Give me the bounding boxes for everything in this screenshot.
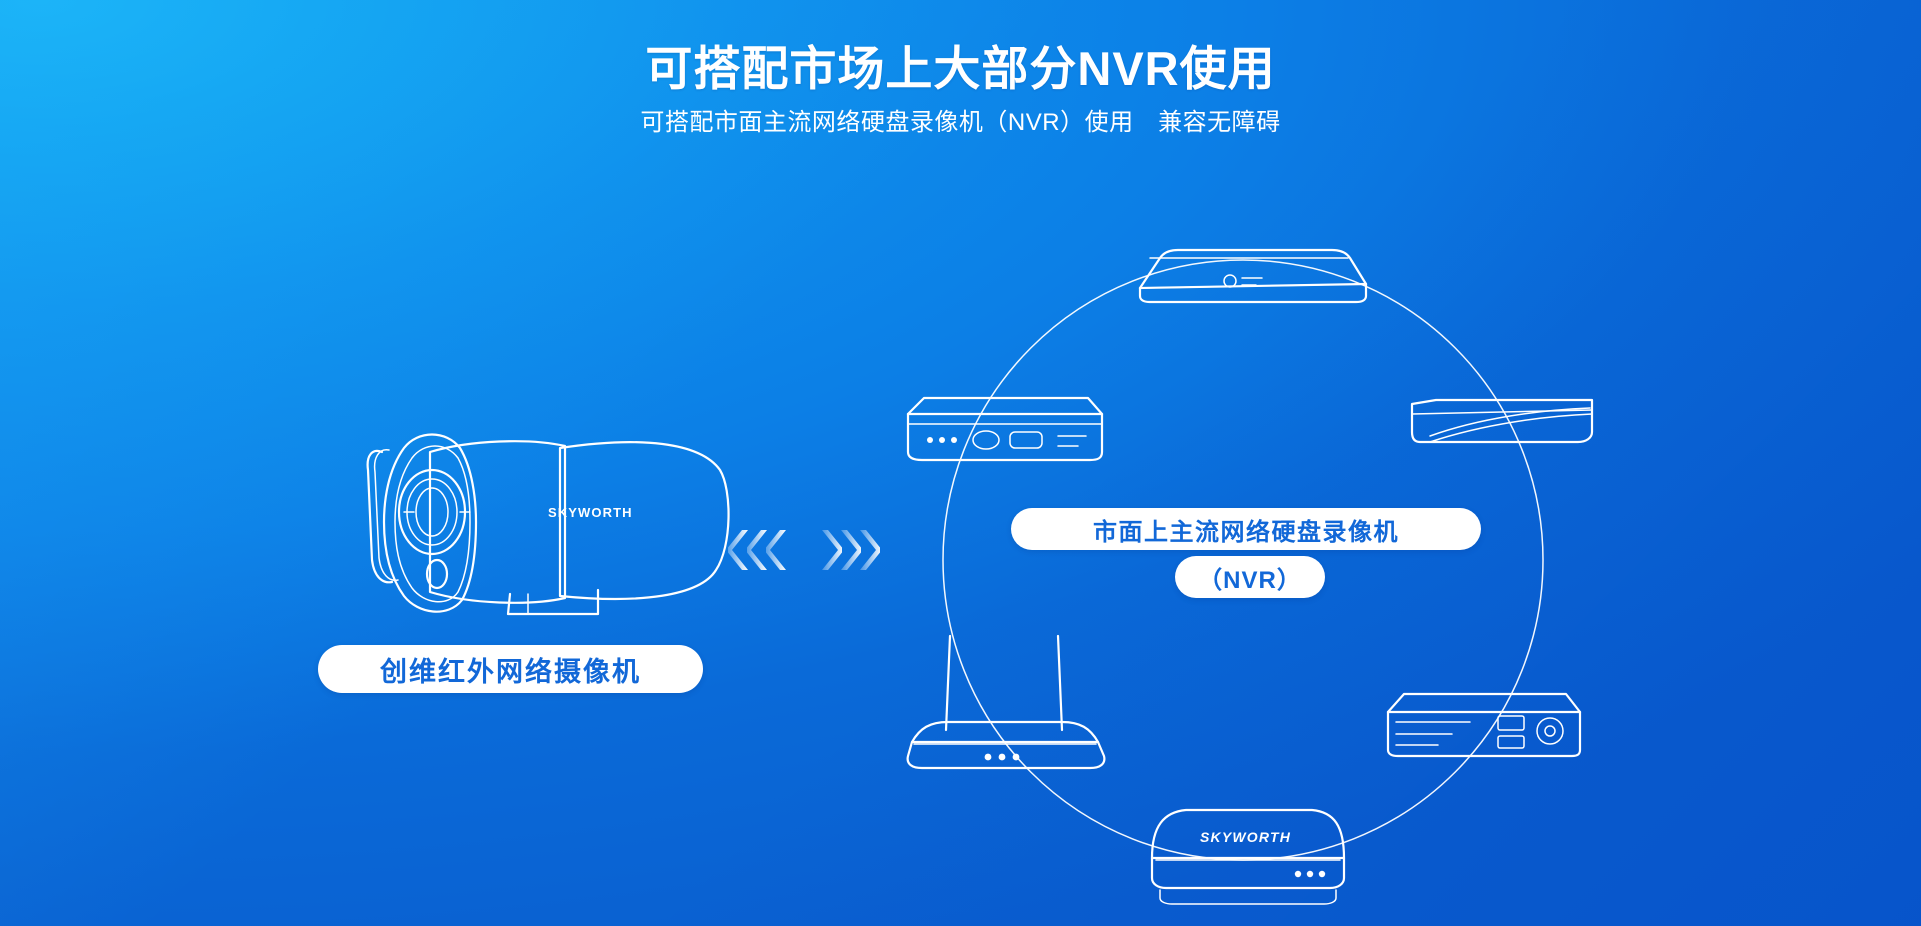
nvr-label-badge: 市面上主流网络硬盘录像机 xyxy=(1011,508,1481,550)
nvr-device-left-top xyxy=(908,398,1102,460)
camera-brand-text: SKYWORTH xyxy=(548,505,633,520)
banner-header: 可搭配市场上大部分NVR使用 可搭配市面主流网络硬盘录像机（NVR）使用 兼容无… xyxy=(0,0,1921,138)
nvr-device-top xyxy=(1140,250,1366,302)
camera-label-badge: 创维红外网络摄像机 xyxy=(318,645,703,693)
triple-chevron-right-icon xyxy=(820,528,880,572)
triple-chevron-left-icon xyxy=(728,528,788,572)
chevron-left-3 xyxy=(766,528,788,572)
chevron-right-3 xyxy=(858,528,880,572)
nvr-device-right-top xyxy=(1412,400,1592,442)
nvr-device-bottom: SKYWORTH xyxy=(1152,810,1344,904)
banner-root: 可搭配市场上大部分NVR使用 可搭配市面主流网络硬盘录像机（NVR）使用 兼容无… xyxy=(0,0,1921,926)
router-antenna-right xyxy=(1058,636,1062,730)
ip-camera-illustration: SKYWORTH xyxy=(368,435,729,615)
router-antenna-left xyxy=(946,636,950,730)
page-title: 可搭配市场上大部分NVR使用 xyxy=(0,42,1921,96)
illustration-stage: SKYWORTH xyxy=(0,0,1921,926)
bottom-device-brand-text: SKYWORTH xyxy=(1200,829,1291,845)
line-art-canvas: SKYWORTH xyxy=(0,0,1921,926)
nvr-device-right-bottom xyxy=(1388,694,1580,756)
nvr-device-left-bottom xyxy=(908,636,1105,768)
page-subtitle: 可搭配市面主流网络硬盘录像机（NVR）使用 兼容无障碍 xyxy=(0,109,1921,138)
camera-lens-inner xyxy=(416,488,448,536)
nvr-sublabel-badge: （NVR） xyxy=(1175,556,1325,598)
